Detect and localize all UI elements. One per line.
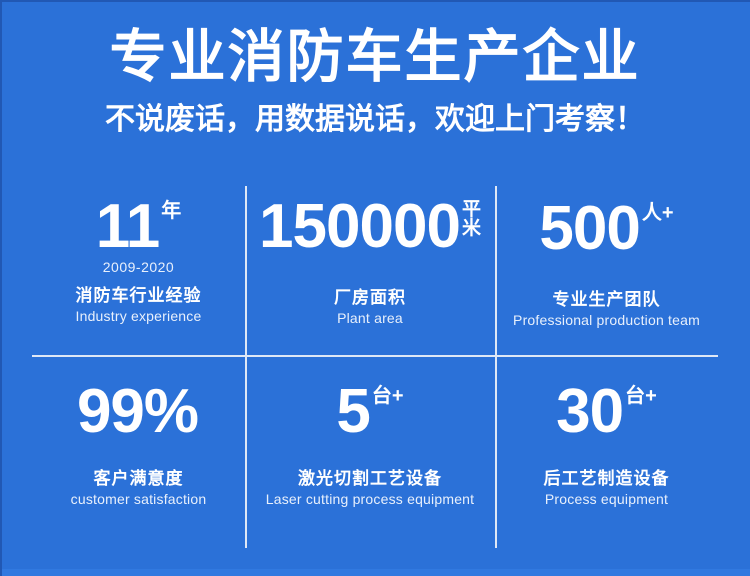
stat-label-en: customer satisfaction <box>71 491 207 507</box>
grid-divider-vertical-1 <box>245 186 247 548</box>
stat-label-en: Professional production team <box>513 312 700 328</box>
stat-unit-line-2: 米 <box>462 219 481 238</box>
stat-cell-industry-experience: 11 年 2009-2020 消防车行业经验 Industry experien… <box>32 186 245 355</box>
stat-cell-customer-satisfaction: 99% 客户满意度 customer satisfaction <box>32 357 245 548</box>
stat-value-line: 500 人+ <box>539 200 673 259</box>
stat-label-cn: 专业生产团队 <box>553 285 661 310</box>
stat-label-en: Laser cutting process equipment <box>266 491 475 507</box>
stat-label-cn: 激光切割工艺设备 <box>298 464 442 489</box>
stat-value-line: 5 台+ <box>336 383 403 442</box>
stat-cell-process-equipment: 30 台+ 后工艺制造设备 Process equipment <box>495 357 718 548</box>
stat-number: 99% <box>77 383 198 442</box>
stat-value-line: 11 年 <box>96 198 182 257</box>
stat-unit: 台+ <box>372 383 404 407</box>
stat-number: 11 <box>96 198 160 257</box>
stat-value-line: 150000 平 米 <box>259 198 481 257</box>
stat-value-line: 30 台+ <box>556 383 657 442</box>
stat-label-cn: 厂房面积 <box>334 283 406 308</box>
stats-row-top: 11 年 2009-2020 消防车行业经验 Industry experien… <box>32 186 718 355</box>
stat-unit: 台+ <box>625 383 657 407</box>
stat-cell-laser-cutting-equipment: 5 台+ 激光切割工艺设备 Laser cutting process equi… <box>245 357 495 548</box>
stat-label-en: Plant area <box>337 310 403 326</box>
stat-unit: 人+ <box>642 200 674 224</box>
banner-subheadline: 不说废话，用数据说话，欢迎上门考察！ <box>0 100 750 140</box>
stat-year-range: 2009-2020 <box>103 259 174 275</box>
stat-number: 30 <box>556 383 623 442</box>
stats-row-bottom: 99% 客户满意度 customer satisfaction 5 台+ 激光切… <box>32 357 718 548</box>
stat-label-cn: 后工艺制造设备 <box>544 464 670 489</box>
stat-number: 5 <box>336 383 369 442</box>
stat-label-cn: 客户满意度 <box>94 464 184 489</box>
stat-number: 500 <box>539 200 639 259</box>
promo-banner: 专业消防车生产企业 不说废话，用数据说话，欢迎上门考察！ 11 年 2009-2… <box>0 0 750 576</box>
banner-headline: 专业消防车生产企业 <box>0 22 750 92</box>
stat-cell-production-team: 500 人+ 专业生产团队 Professional production te… <box>495 186 718 355</box>
bottom-accent-band <box>0 569 750 576</box>
banner-header: 专业消防车生产企业 不说废话，用数据说话，欢迎上门考察！ <box>0 22 750 140</box>
stat-label-en: Industry experience <box>76 308 202 324</box>
stat-label-en: Process equipment <box>545 491 668 507</box>
stat-number: 150000 <box>259 198 460 257</box>
stat-value-line: 99% <box>77 383 200 442</box>
stats-grid: 11 年 2009-2020 消防车行业经验 Industry experien… <box>32 186 718 548</box>
grid-divider-horizontal <box>32 355 718 357</box>
stat-unit: 年 <box>161 198 181 222</box>
stat-cell-plant-area: 150000 平 米 厂房面积 Plant area <box>245 186 495 355</box>
stat-unit: 平 米 <box>462 198 481 238</box>
grid-divider-vertical-2 <box>495 186 497 548</box>
stat-label-cn: 消防车行业经验 <box>76 281 202 306</box>
stat-unit-line-1: 平 <box>462 200 481 219</box>
